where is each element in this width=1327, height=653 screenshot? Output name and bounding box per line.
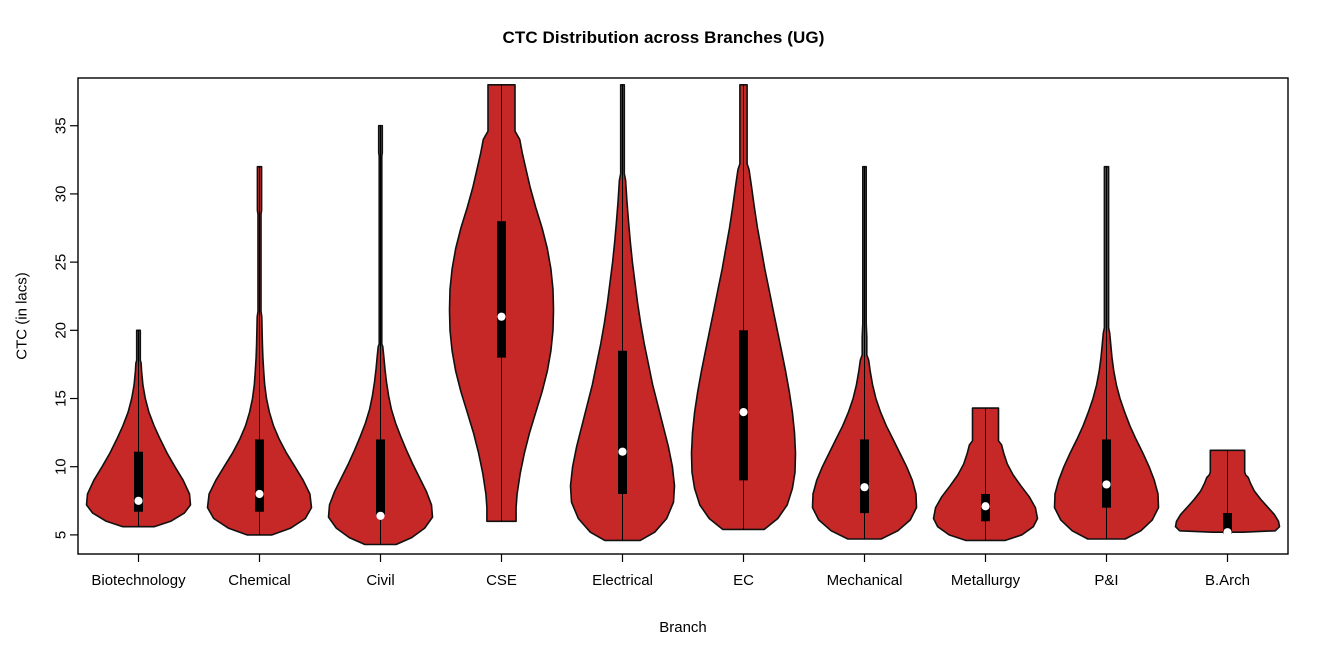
median-marker [134,497,142,505]
y-axis-tick-label: 5 [53,531,70,539]
median-marker [860,483,868,491]
x-axis-category-label-p-i: P&I [1094,572,1118,589]
iqr-box [497,221,506,357]
x-axis-category-label-ec: EC [733,572,754,589]
violin-electrical[interactable] [571,85,675,541]
x-axis-title: Branch [659,619,707,636]
x-axis-category-label-electrical: Electrical [592,572,653,589]
x-axis-category-label-cse: CSE [486,572,517,589]
iqr-box [618,351,627,494]
y-axis-tick-label: 30 [53,186,70,203]
violin-ec[interactable] [692,85,796,530]
iqr-box [376,439,385,514]
x-axis-category-label-civil: Civil [366,572,394,589]
violin-p-i[interactable] [1055,167,1159,539]
violin-biotechnology[interactable] [87,330,191,526]
iqr-box [255,439,264,511]
x-axis-category-label-b-arch: B.Arch [1205,572,1250,589]
violin-civil[interactable] [329,126,433,545]
iqr-box [739,330,748,480]
median-marker [981,502,989,510]
median-marker [255,490,263,498]
median-marker [497,313,505,321]
median-marker [1223,528,1231,536]
violin-mechanical[interactable] [813,167,917,539]
plot-canvas: 5101520253035CTC (in lacs)BiotechnologyC… [0,0,1327,653]
y-axis-title: CTC (in lacs) [14,272,31,360]
x-axis-category-label-chemical: Chemical [228,572,291,589]
median-marker [1102,480,1110,488]
violin-b-arch[interactable] [1176,450,1280,536]
violin-plot-figure: CTC Distribution across Branches (UG) 51… [0,0,1327,653]
violin-chemical[interactable] [208,167,312,535]
violins-layer [87,85,1280,545]
median-marker [376,512,384,520]
x-axis-category-label-biotechnology: Biotechnology [91,572,186,589]
y-axis-tick-label: 15 [53,390,70,407]
median-marker [618,448,626,456]
violin-cse[interactable] [450,85,554,522]
y-axis-tick-label: 35 [53,117,70,134]
violin-metallurgy[interactable] [934,408,1038,540]
y-axis-tick-label: 20 [53,322,70,339]
y-axis-tick-label: 25 [53,254,70,271]
median-marker [739,408,747,416]
y-axis-tick-label: 10 [53,458,70,475]
iqr-box [860,439,869,513]
x-axis-category-label-mechanical: Mechanical [827,572,903,589]
iqr-box [1102,439,1111,507]
x-axis-category-label-metallurgy: Metallurgy [951,572,1021,589]
